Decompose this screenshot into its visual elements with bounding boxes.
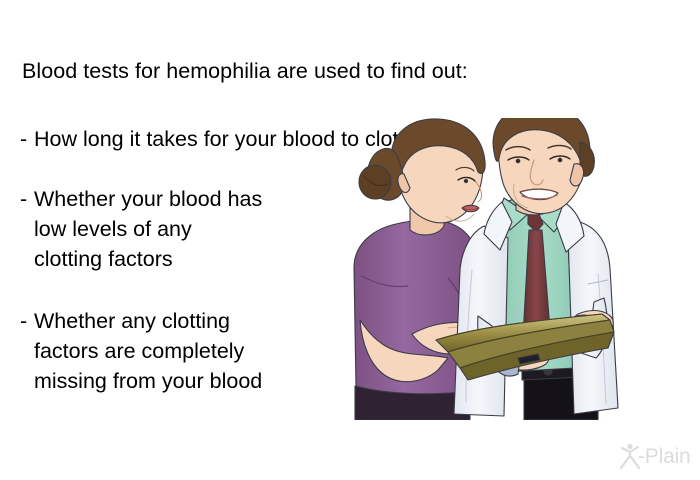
bullet-line: factors are completely xyxy=(34,336,262,366)
page-title: Blood tests for hemophilia are used to f… xyxy=(22,58,468,84)
bullet-item-2: - Whether your blood has low levels of a… xyxy=(20,184,262,274)
bullet-item-1: - How long it takes for your blood to cl… xyxy=(20,124,399,154)
bullet-line: How long it takes for your blood to clot xyxy=(34,124,399,154)
bullet-marker: - xyxy=(20,184,34,214)
bullet-line: clotting factors xyxy=(34,244,262,274)
slide-canvas: Blood tests for hemophilia are used to f… xyxy=(0,0,700,480)
bullet-line: Whether your blood has xyxy=(34,184,262,214)
bullet-marker: - xyxy=(20,306,34,336)
x-plain-logo-text: -Plain xyxy=(638,445,691,469)
bullet-item-3: - Whether any clotting factors are compl… xyxy=(20,306,262,396)
illustration-doctor-and-patient xyxy=(352,118,682,420)
bullet-line: Whether any clotting xyxy=(34,306,262,336)
bullet-text: Whether your blood has low levels of any… xyxy=(34,184,262,274)
bullet-marker: - xyxy=(20,124,34,154)
x-plain-logo: -Plain xyxy=(618,442,694,472)
bullet-text: Whether any clotting factors are complet… xyxy=(34,306,262,396)
bullet-text: How long it takes for your blood to clot xyxy=(34,124,399,154)
bullet-line: low levels of any xyxy=(34,214,262,244)
bullet-line: missing from your blood xyxy=(34,366,262,396)
